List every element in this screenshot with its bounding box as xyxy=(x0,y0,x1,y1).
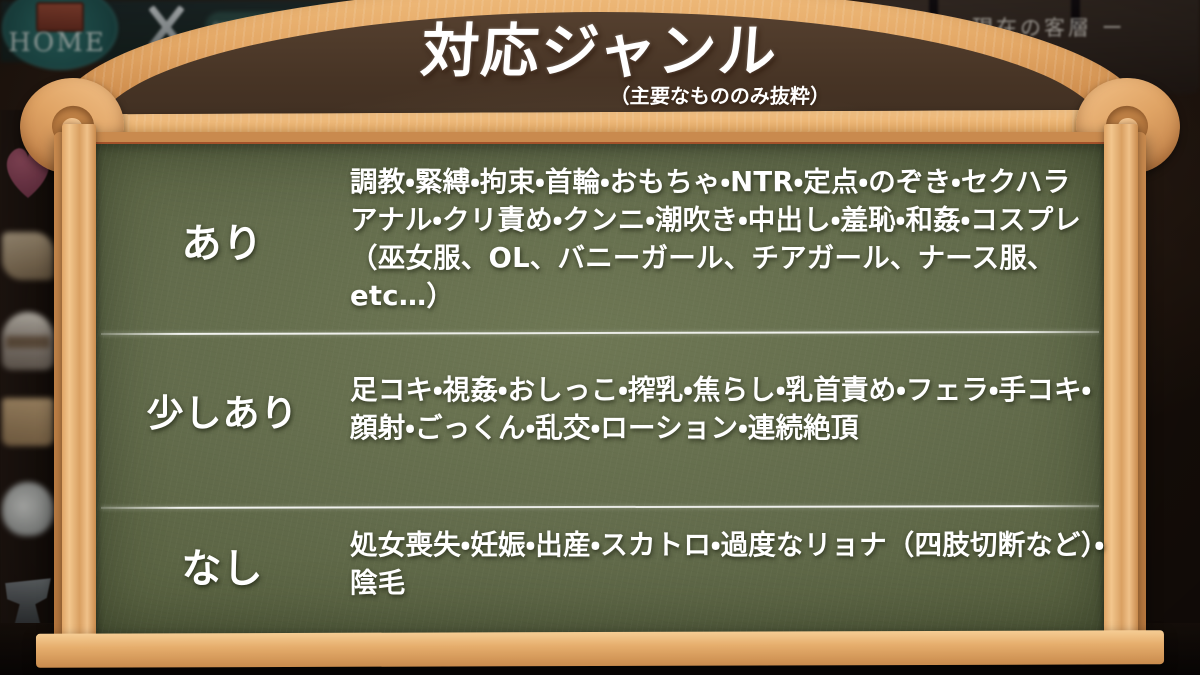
genre-row-label: あり xyxy=(95,211,350,269)
wooden-ledge xyxy=(36,630,1164,668)
frame-post-right xyxy=(1104,124,1138,644)
genre-row-items: 足コキ・視姦・おしっこ・搾乳・焦らし・乳首責め・フェラ・手コキ・ 顔射・ごっくん… xyxy=(350,372,1105,448)
genre-row-label: なし xyxy=(95,536,350,594)
chalk-divider xyxy=(101,331,1099,335)
genre-row-items: 処女喪失・妊娠・出産・スカトロ・過度なリョナ（四肢切断など）・ 陰毛 xyxy=(350,527,1105,603)
genre-row: なし 処女喪失・妊娠・出産・スカトロ・過度なリョナ（四肢切断など）・ 陰毛 xyxy=(95,510,1105,620)
page-title: 対応ジャンル xyxy=(419,22,780,80)
genre-row-label: 少しあり xyxy=(95,383,350,437)
genre-rows: あり 調教・緊縛・拘束・首輪・おもちゃ・NTR・定点・のぞき・セクハラ アナル・… xyxy=(95,144,1105,634)
screenshot-root: HOME 紅蓮の ー 現在の客層 ー 対応ジャンル （主要なもののみ抜粋） xyxy=(0,0,1200,675)
page-subtitle: （主要なもののみ抜粋） xyxy=(609,80,831,109)
genre-row: 少しあり 足コキ・視姦・おしっこ・搾乳・焦らし・乳首責め・フェラ・手コキ・ 顔射… xyxy=(95,340,1105,480)
genre-sign-panel: 対応ジャンル （主要なもののみ抜粋） あり 調教・緊縛・拘束・首輪・おもちゃ・N… xyxy=(40,4,1160,664)
frame-post-left xyxy=(62,124,96,644)
genre-row: あり 調教・緊縛・拘束・首輪・おもちゃ・NTR・定点・のぞき・セクハラ アナル・… xyxy=(95,170,1105,310)
chalk-divider xyxy=(101,505,1099,509)
genre-row-items: 調教・緊縛・拘束・首輪・おもちゃ・NTR・定点・のぞき・セクハラ アナル・クリ責… xyxy=(350,164,1105,316)
title-area: 対応ジャンル （主要なもののみ抜粋） xyxy=(40,22,1160,80)
